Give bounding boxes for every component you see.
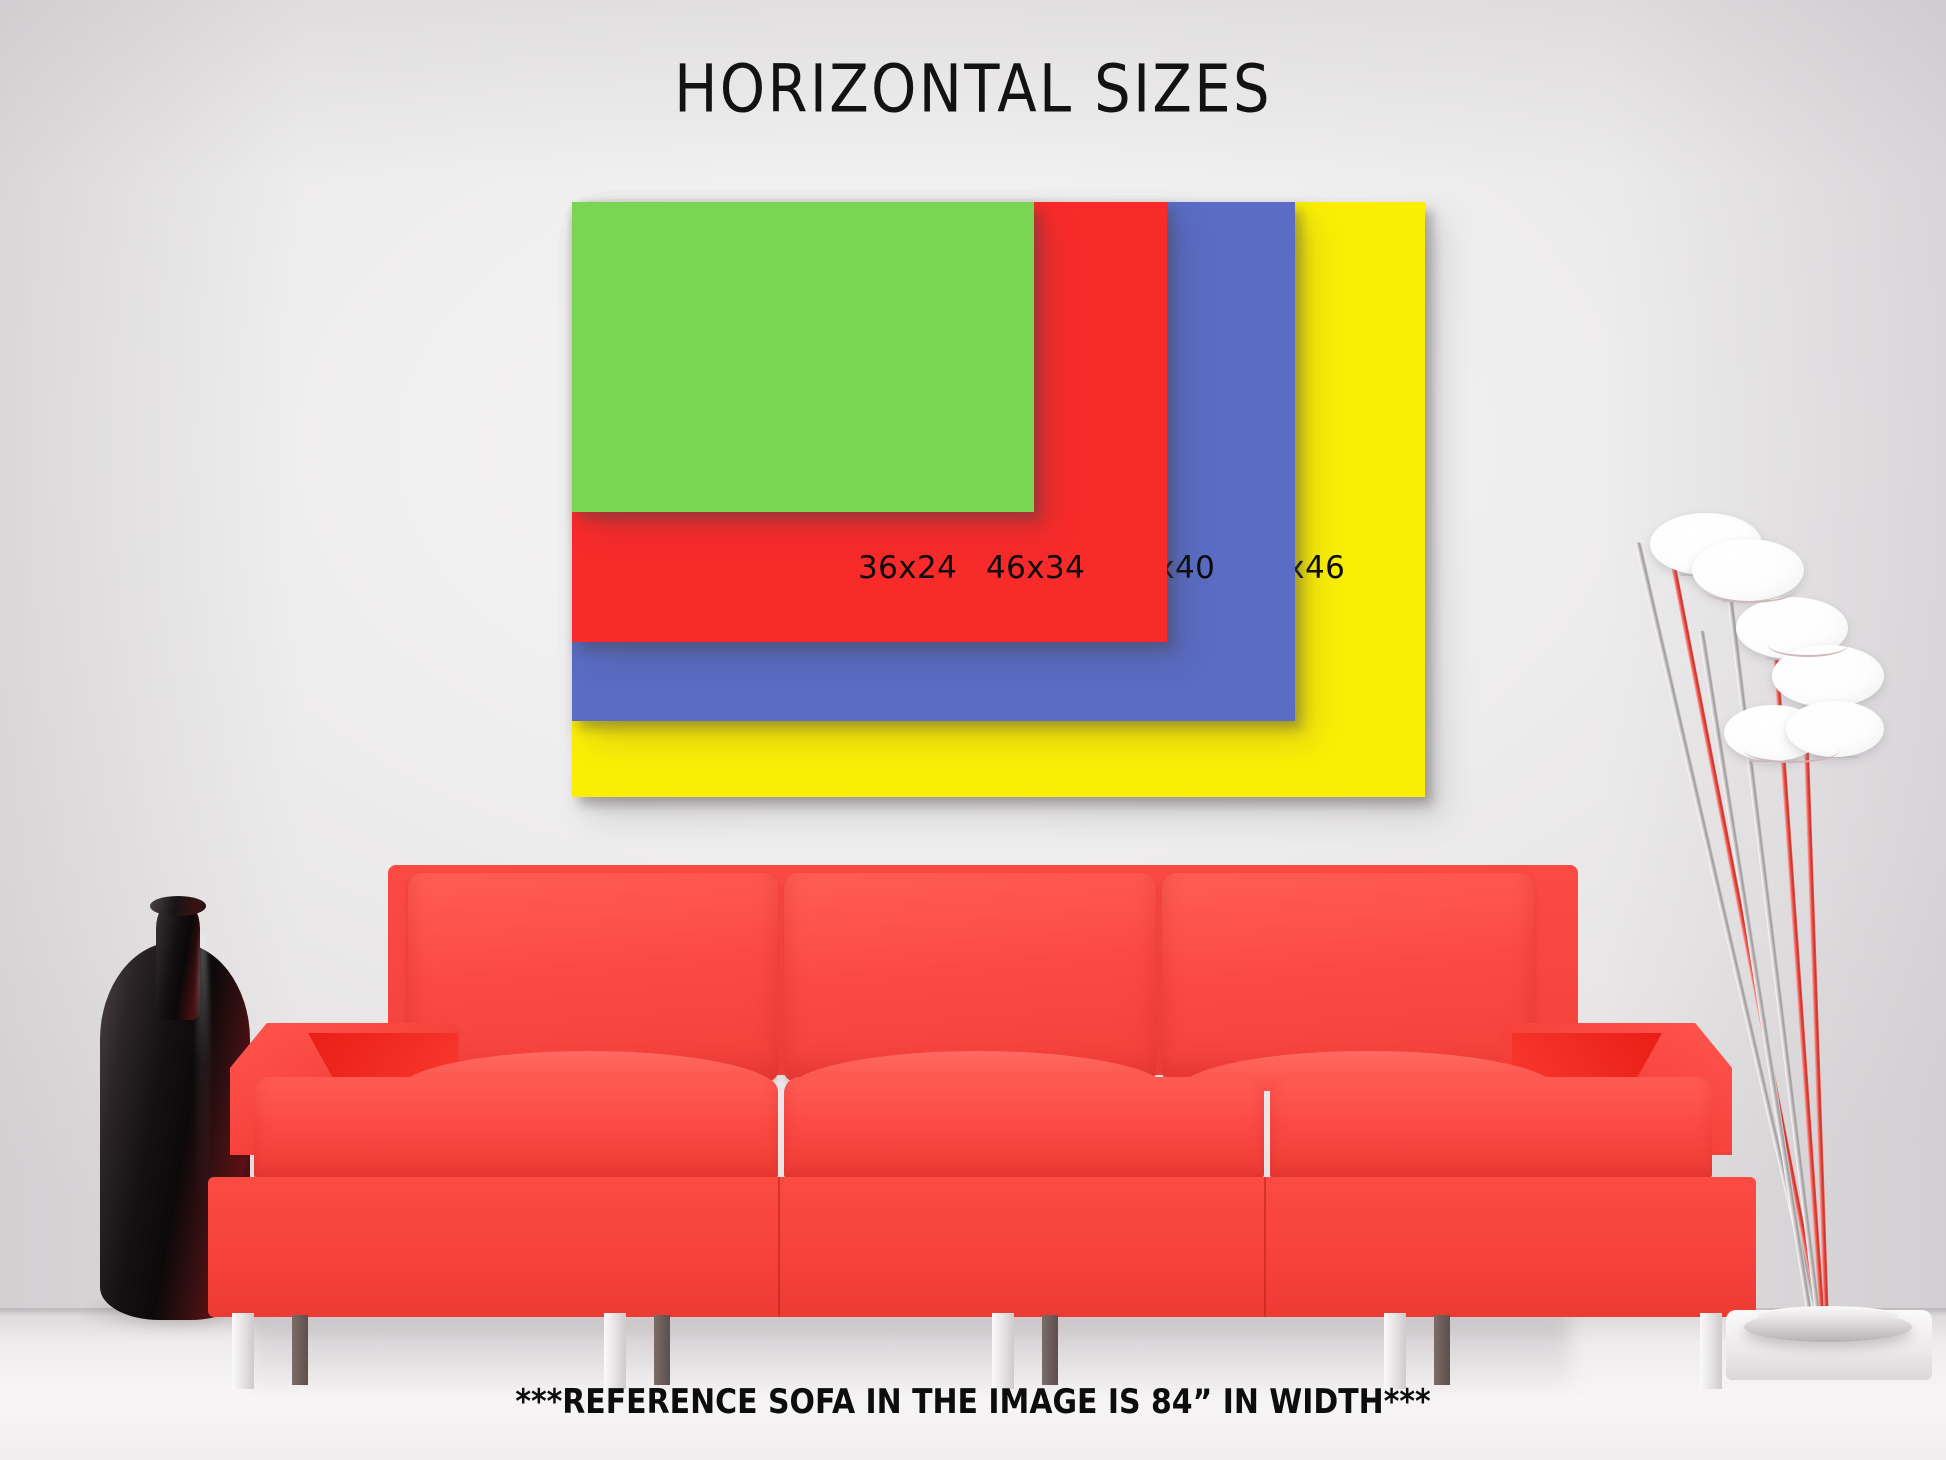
reference-caption: ***REFERENCE SOFA IN THE IMAGE IS 84” IN…	[117, 1382, 1829, 1422]
lamp-wire	[1768, 633, 1848, 657]
sofa-leg-shadow	[1042, 1315, 1058, 1385]
vase-lip	[150, 896, 206, 916]
sofa-base-seam	[778, 1177, 780, 1317]
lamp-wire	[1704, 577, 1796, 603]
sofa-back-cushion	[784, 873, 1156, 1081]
panel-size-label: 36x24	[858, 550, 957, 586]
room-scene: HORIZONTAL SIZES 66x4656x4046x3436x24	[0, 0, 1946, 1460]
sofa-back-cushion	[408, 873, 778, 1081]
sofa-seat-cushion	[254, 1077, 778, 1181]
vase-neck	[156, 900, 200, 1020]
panel-size-label: 46x34	[986, 550, 1085, 586]
panel-36x24[interactable]: 36x24	[572, 202, 1034, 512]
sofa-base-seam	[1264, 1177, 1266, 1317]
sofa-seat-cushion	[784, 1077, 1264, 1181]
sofa-base	[208, 1177, 1756, 1317]
lamp-wire	[1744, 737, 1840, 763]
sofa-leg-shadow	[292, 1315, 308, 1385]
floor-lamp	[1640, 505, 1946, 1340]
sofa-leg	[232, 1313, 254, 1389]
lamp-base	[1744, 1312, 1912, 1342]
sofa-leg	[992, 1313, 1014, 1389]
sofa-leg-shadow	[1434, 1315, 1450, 1385]
sofa-back-cushion	[1162, 873, 1534, 1081]
reference-sofa	[248, 855, 1718, 1325]
sofa-leg	[1384, 1313, 1406, 1389]
sofa-leg-shadow	[654, 1315, 670, 1385]
sofa-leg	[604, 1313, 626, 1389]
